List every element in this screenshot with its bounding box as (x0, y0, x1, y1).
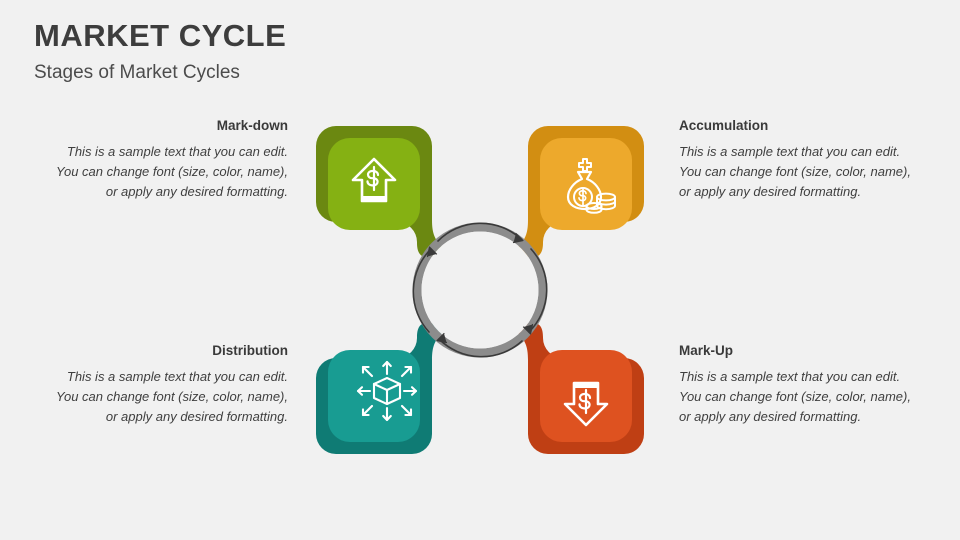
market-cycle-diagram (298, 108, 662, 472)
stage-tile-distribution[interactable] (316, 323, 450, 454)
stage-label-distribution: Distribution (56, 342, 288, 360)
page-subtitle: Stages of Market Cycles (34, 60, 634, 86)
tile-face-accumulation (540, 138, 632, 230)
stage-text-distribution: Distribution This is a sample text that … (56, 342, 288, 427)
stage-description-mark-up: This is a sample text that you can edit.… (679, 367, 911, 427)
tile-face-mark-down (328, 138, 420, 230)
tile-face-mark-up (540, 350, 632, 442)
stage-description-accumulation: This is a sample text that you can edit.… (679, 142, 911, 202)
stage-tile-accumulation[interactable] (510, 126, 644, 257)
stage-description-distribution: This is a sample text that you can edit.… (56, 367, 288, 427)
stage-text-mark-down: Mark-down This is a sample text that you… (56, 117, 288, 202)
stage-label-mark-up: Mark-Up (679, 342, 911, 360)
stage-text-accumulation: Accumulation This is a sample text that … (679, 117, 911, 202)
tile-face-distribution (328, 350, 420, 442)
slide-canvas: MARKET CYCLE Stages of Market Cycles Mar… (0, 0, 960, 540)
stage-description-mark-down: This is a sample text that you can edit.… (56, 142, 288, 202)
stage-label-mark-down: Mark-down (56, 117, 288, 135)
stage-tile-mark-down[interactable] (316, 126, 450, 257)
page-title: MARKET CYCLE (34, 16, 634, 56)
center-ring (417, 227, 543, 353)
stage-label-accumulation: Accumulation (679, 117, 911, 135)
slide-header: MARKET CYCLE Stages of Market Cycles (34, 16, 634, 86)
stage-text-mark-up: Mark-Up This is a sample text that you c… (679, 342, 911, 427)
stage-tile-mark-up[interactable] (510, 323, 644, 454)
